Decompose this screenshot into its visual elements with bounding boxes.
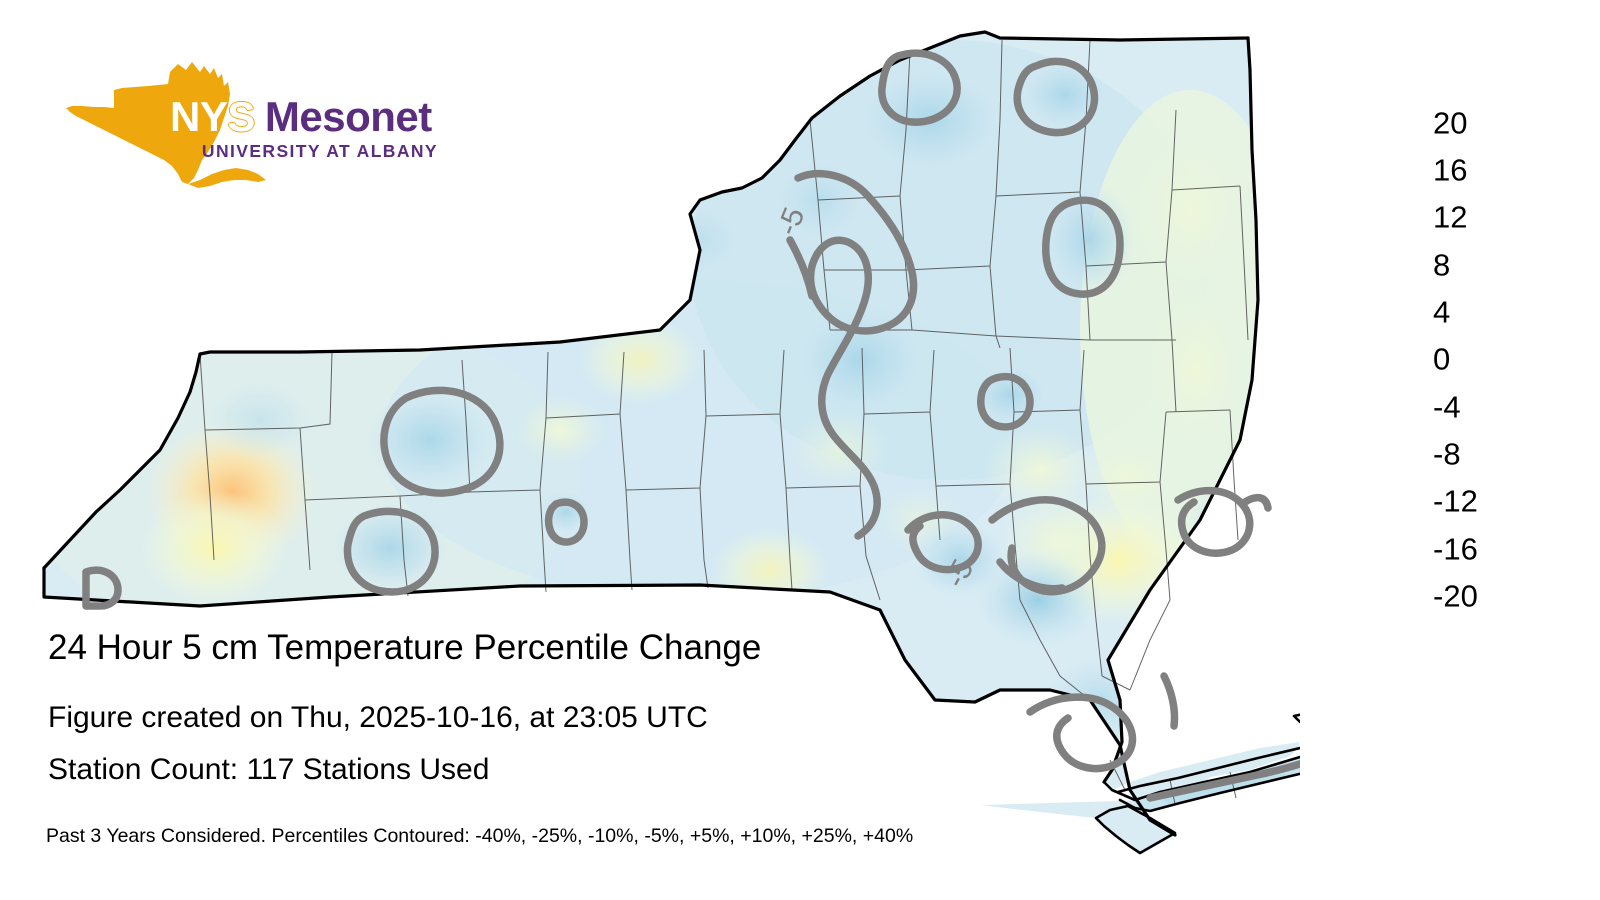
colorbar-tick-label: 16 — [1433, 155, 1467, 186]
logo-nys-text: NYS — [170, 93, 255, 140]
colorbar-tick-label: -12 — [1433, 486, 1478, 517]
colorbar-tick-label: 4 — [1433, 297, 1450, 328]
colorbar-gradient — [1337, 123, 1411, 596]
logo-wordmark: NYSMesonet UNIVERSITY AT ALBANY — [170, 96, 438, 161]
colorbar: 20 16 12 8 4 0 -4 -8 -12 -16 -20 — [1337, 123, 1577, 613]
colorbar-tick-label: 8 — [1433, 250, 1450, 281]
colorbar-tick-label: -16 — [1433, 534, 1478, 565]
colorbar-tick-label: -8 — [1433, 439, 1461, 470]
colorbar-tick-label: 0 — [1433, 344, 1450, 375]
logo-affiliation-text: UNIVERSITY AT ALBANY — [170, 143, 438, 161]
contour-footnote: Past 3 Years Considered. Percentiles Con… — [46, 827, 913, 847]
colorbar-tick-label: 20 — [1433, 108, 1467, 139]
figure-canvas: -5 -5 NYSMesonet UNIVERSITY AT ALBANY 20… — [0, 0, 1600, 900]
colorbar-tick-label: 12 — [1433, 202, 1467, 233]
figure-timestamp: Figure created on Thu, 2025-10-16, at 23… — [48, 703, 708, 733]
station-count: Station Count: 117 Stations Used — [48, 755, 489, 785]
colorbar-tick-label: -20 — [1433, 581, 1478, 612]
nys-mesonet-logo: NYSMesonet UNIVERSITY AT ALBANY — [52, 60, 397, 190]
page-title: 24 Hour 5 cm Temperature Percentile Chan… — [48, 630, 761, 665]
logo-mesonet-text: Mesonet — [265, 93, 432, 140]
colorbar-tick-label: -4 — [1433, 392, 1461, 423]
